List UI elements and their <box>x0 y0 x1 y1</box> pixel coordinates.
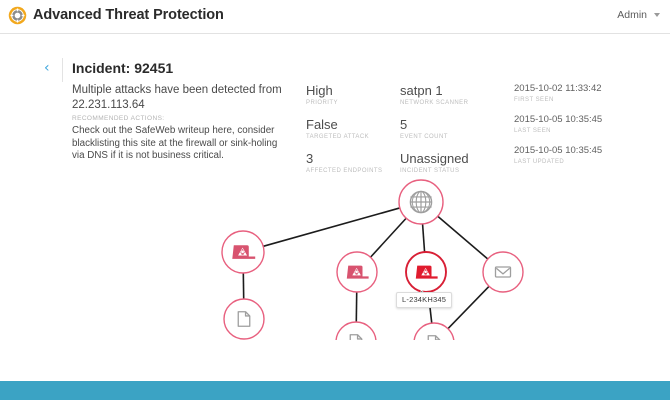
meta-value: High <box>306 83 401 98</box>
incident-summary: Multiple attacks have been detected from… <box>72 83 287 112</box>
meta-key: NETWORK SCANNER <box>400 99 510 108</box>
top-navigation-bar: Advanced Threat Protection Admin <box>0 0 670 34</box>
graph-node-layer <box>222 180 523 340</box>
atp-incident-page: Advanced Threat Protection Admin ‹ Incid… <box>0 0 670 400</box>
graph-node-globe[interactable] <box>399 180 443 224</box>
graph-node-device-3[interactable] <box>406 252 446 292</box>
meta-key: FIRST SEEN <box>514 96 664 105</box>
meta-item: 2015-10-02 11:33:42 FIRST SEEN <box>514 83 664 105</box>
meta-key: PRIORITY <box>306 99 401 108</box>
header-divider <box>62 58 63 82</box>
meta-value: satpn 1 <box>400 83 510 98</box>
graph-node-device-2[interactable] <box>337 252 377 292</box>
back-button[interactable]: ‹ <box>44 61 50 75</box>
admin-menu[interactable]: Admin <box>617 9 660 21</box>
graph-node-file-1[interactable] <box>224 299 264 339</box>
meta-value: 2015-10-02 11:33:42 <box>514 83 664 95</box>
action-toolbar: Add to Blacklist▤Add to Whitelist▤Quaran… <box>0 381 670 400</box>
recommended-actions-label: RECOMMENDED ACTIONS: <box>72 115 165 122</box>
attack-graph-svg <box>0 125 670 340</box>
chevron-down-icon <box>654 13 660 17</box>
graph-node-file-3[interactable] <box>414 323 454 340</box>
graph-edge <box>370 218 406 257</box>
globe-icon <box>410 191 431 212</box>
meta-item: High PRIORITY <box>306 83 401 108</box>
admin-menu-label: Admin <box>617 9 647 21</box>
graph-edge <box>263 208 400 246</box>
graph-edge <box>448 286 489 328</box>
graph-edge <box>438 216 488 259</box>
node-tooltip: L-234KH345 <box>396 292 452 308</box>
graph-node-mail-1[interactable] <box>483 252 523 292</box>
meta-item: satpn 1 NETWORK SCANNER <box>400 83 510 108</box>
graph-edge <box>423 224 425 252</box>
page-title: Incident: 92451 <box>72 60 173 76</box>
brand: Advanced Threat Protection <box>8 6 224 25</box>
graph-node-device-1[interactable] <box>222 231 264 273</box>
brand-title: Advanced Threat Protection <box>33 6 224 25</box>
action-toolbar-items: Add to Blacklist▤Add to Whitelist▤Quaran… <box>0 381 670 400</box>
attack-graph <box>0 125 670 340</box>
graph-node-file-2[interactable] <box>336 322 376 340</box>
shield-target-icon <box>8 6 27 25</box>
